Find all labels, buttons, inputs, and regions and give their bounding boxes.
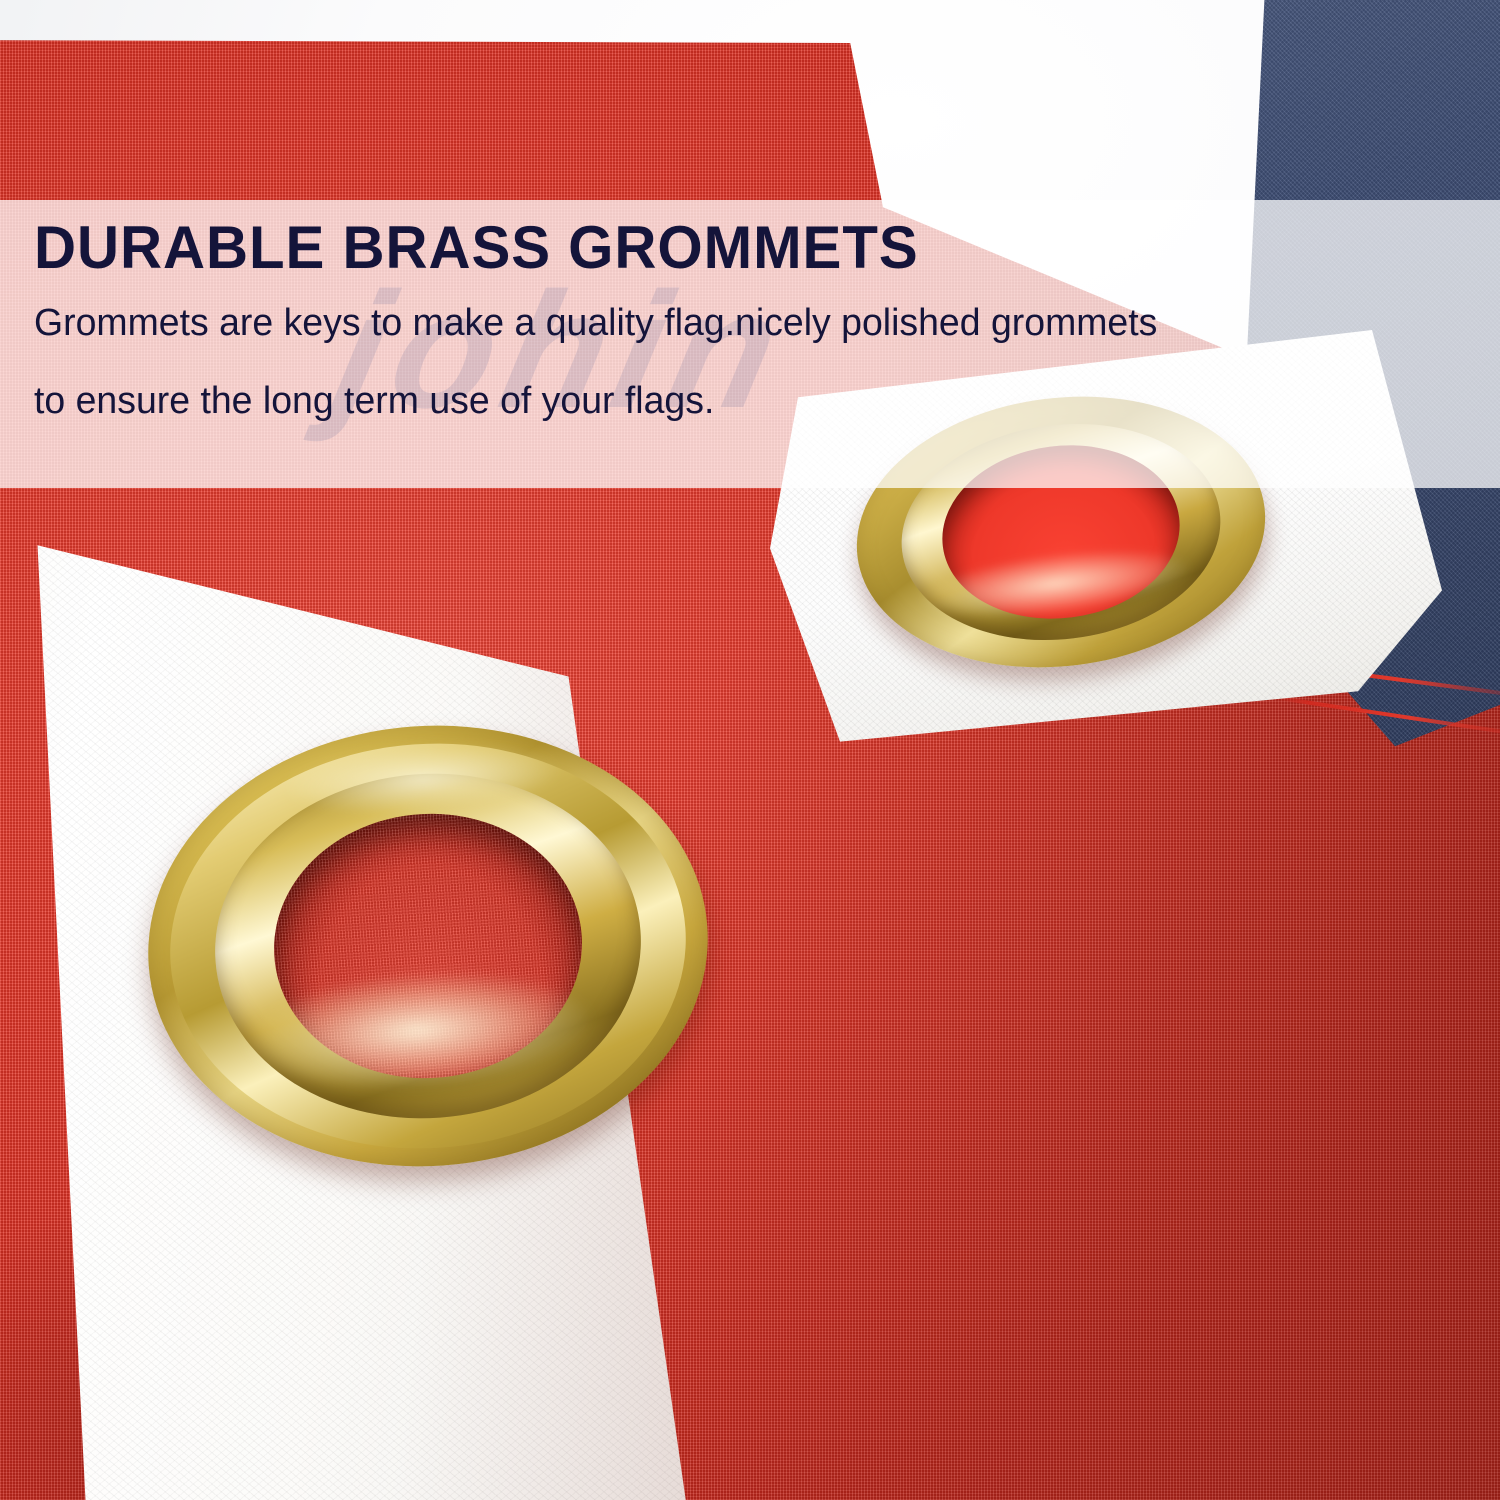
brass-grommet-lower-left (133, 707, 722, 1185)
caption-text-block: DURABLE BRASS GROMMETS Grommets are keys… (0, 200, 1500, 420)
headline: DURABLE BRASS GROMMETS (34, 218, 1456, 278)
caption-banner: johin DURABLE BRASS GROMMETS Grommets ar… (0, 200, 1500, 488)
body-line-1: Grommets are keys to make a quality flag… (34, 304, 1478, 342)
product-feature-image: johin DURABLE BRASS GROMMETS Grommets ar… (0, 0, 1500, 1500)
body-line-2: to ensure the long term use of your flag… (34, 382, 1478, 420)
